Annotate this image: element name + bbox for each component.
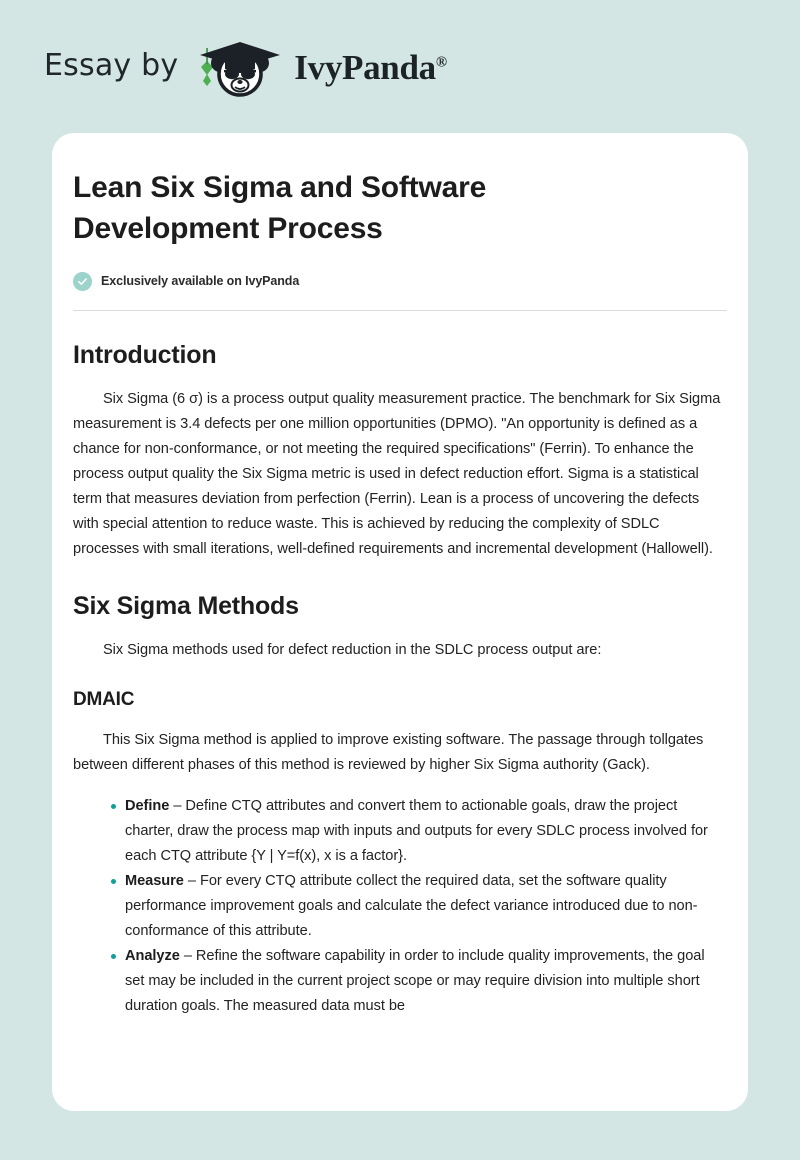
list-item: Analyze – Refine the software capability… xyxy=(73,944,727,1019)
section-paragraph: Six Sigma methods used for defect reduct… xyxy=(73,638,727,663)
list-item: Measure – For every CTQ attribute collec… xyxy=(73,869,727,944)
list-item-text: – For every CTQ attribute collect the re… xyxy=(125,873,698,939)
section-heading-six-sigma-methods: Six Sigma Methods xyxy=(73,592,727,621)
list-item-term: Define xyxy=(125,798,169,814)
exclusive-badge: Exclusively available on IvyPanda xyxy=(73,272,727,291)
brand-header: Essay by xyxy=(0,0,800,133)
section-paragraph: Six Sigma (6 σ) is a process output qual… xyxy=(73,387,727,562)
essay-by-label: Essay by xyxy=(44,51,178,83)
subsection-heading-dmaic: DMAIC xyxy=(73,689,727,711)
check-circle-icon xyxy=(73,272,92,291)
list-item: Define – Define CTQ attributes and conve… xyxy=(73,794,727,869)
list-item-text: – Define CTQ attributes and convert them… xyxy=(125,798,708,864)
section-heading-introduction: Introduction xyxy=(73,341,727,370)
page-title: Lean Six Sigma and Software Development … xyxy=(73,167,593,250)
subsection-paragraph: This Six Sigma method is applied to impr… xyxy=(73,728,727,778)
list-item-term: Measure xyxy=(125,873,184,889)
list-item-term: Analyze xyxy=(125,948,180,964)
ivypanda-logo[interactable]: IvyPanda® xyxy=(194,36,446,98)
ivypanda-wordmark: IvyPanda® xyxy=(294,50,446,85)
exclusive-badge-label: Exclusively available on IvyPanda xyxy=(101,274,299,288)
dmaic-steps-list: Define – Define CTQ attributes and conve… xyxy=(73,794,727,1019)
title-divider xyxy=(73,310,727,311)
document-card: Lean Six Sigma and Software Development … xyxy=(52,133,748,1111)
registered-mark: ® xyxy=(436,54,447,70)
panda-graduate-logo-icon xyxy=(194,36,290,98)
list-item-text: – Refine the software capability in orde… xyxy=(125,948,705,1014)
